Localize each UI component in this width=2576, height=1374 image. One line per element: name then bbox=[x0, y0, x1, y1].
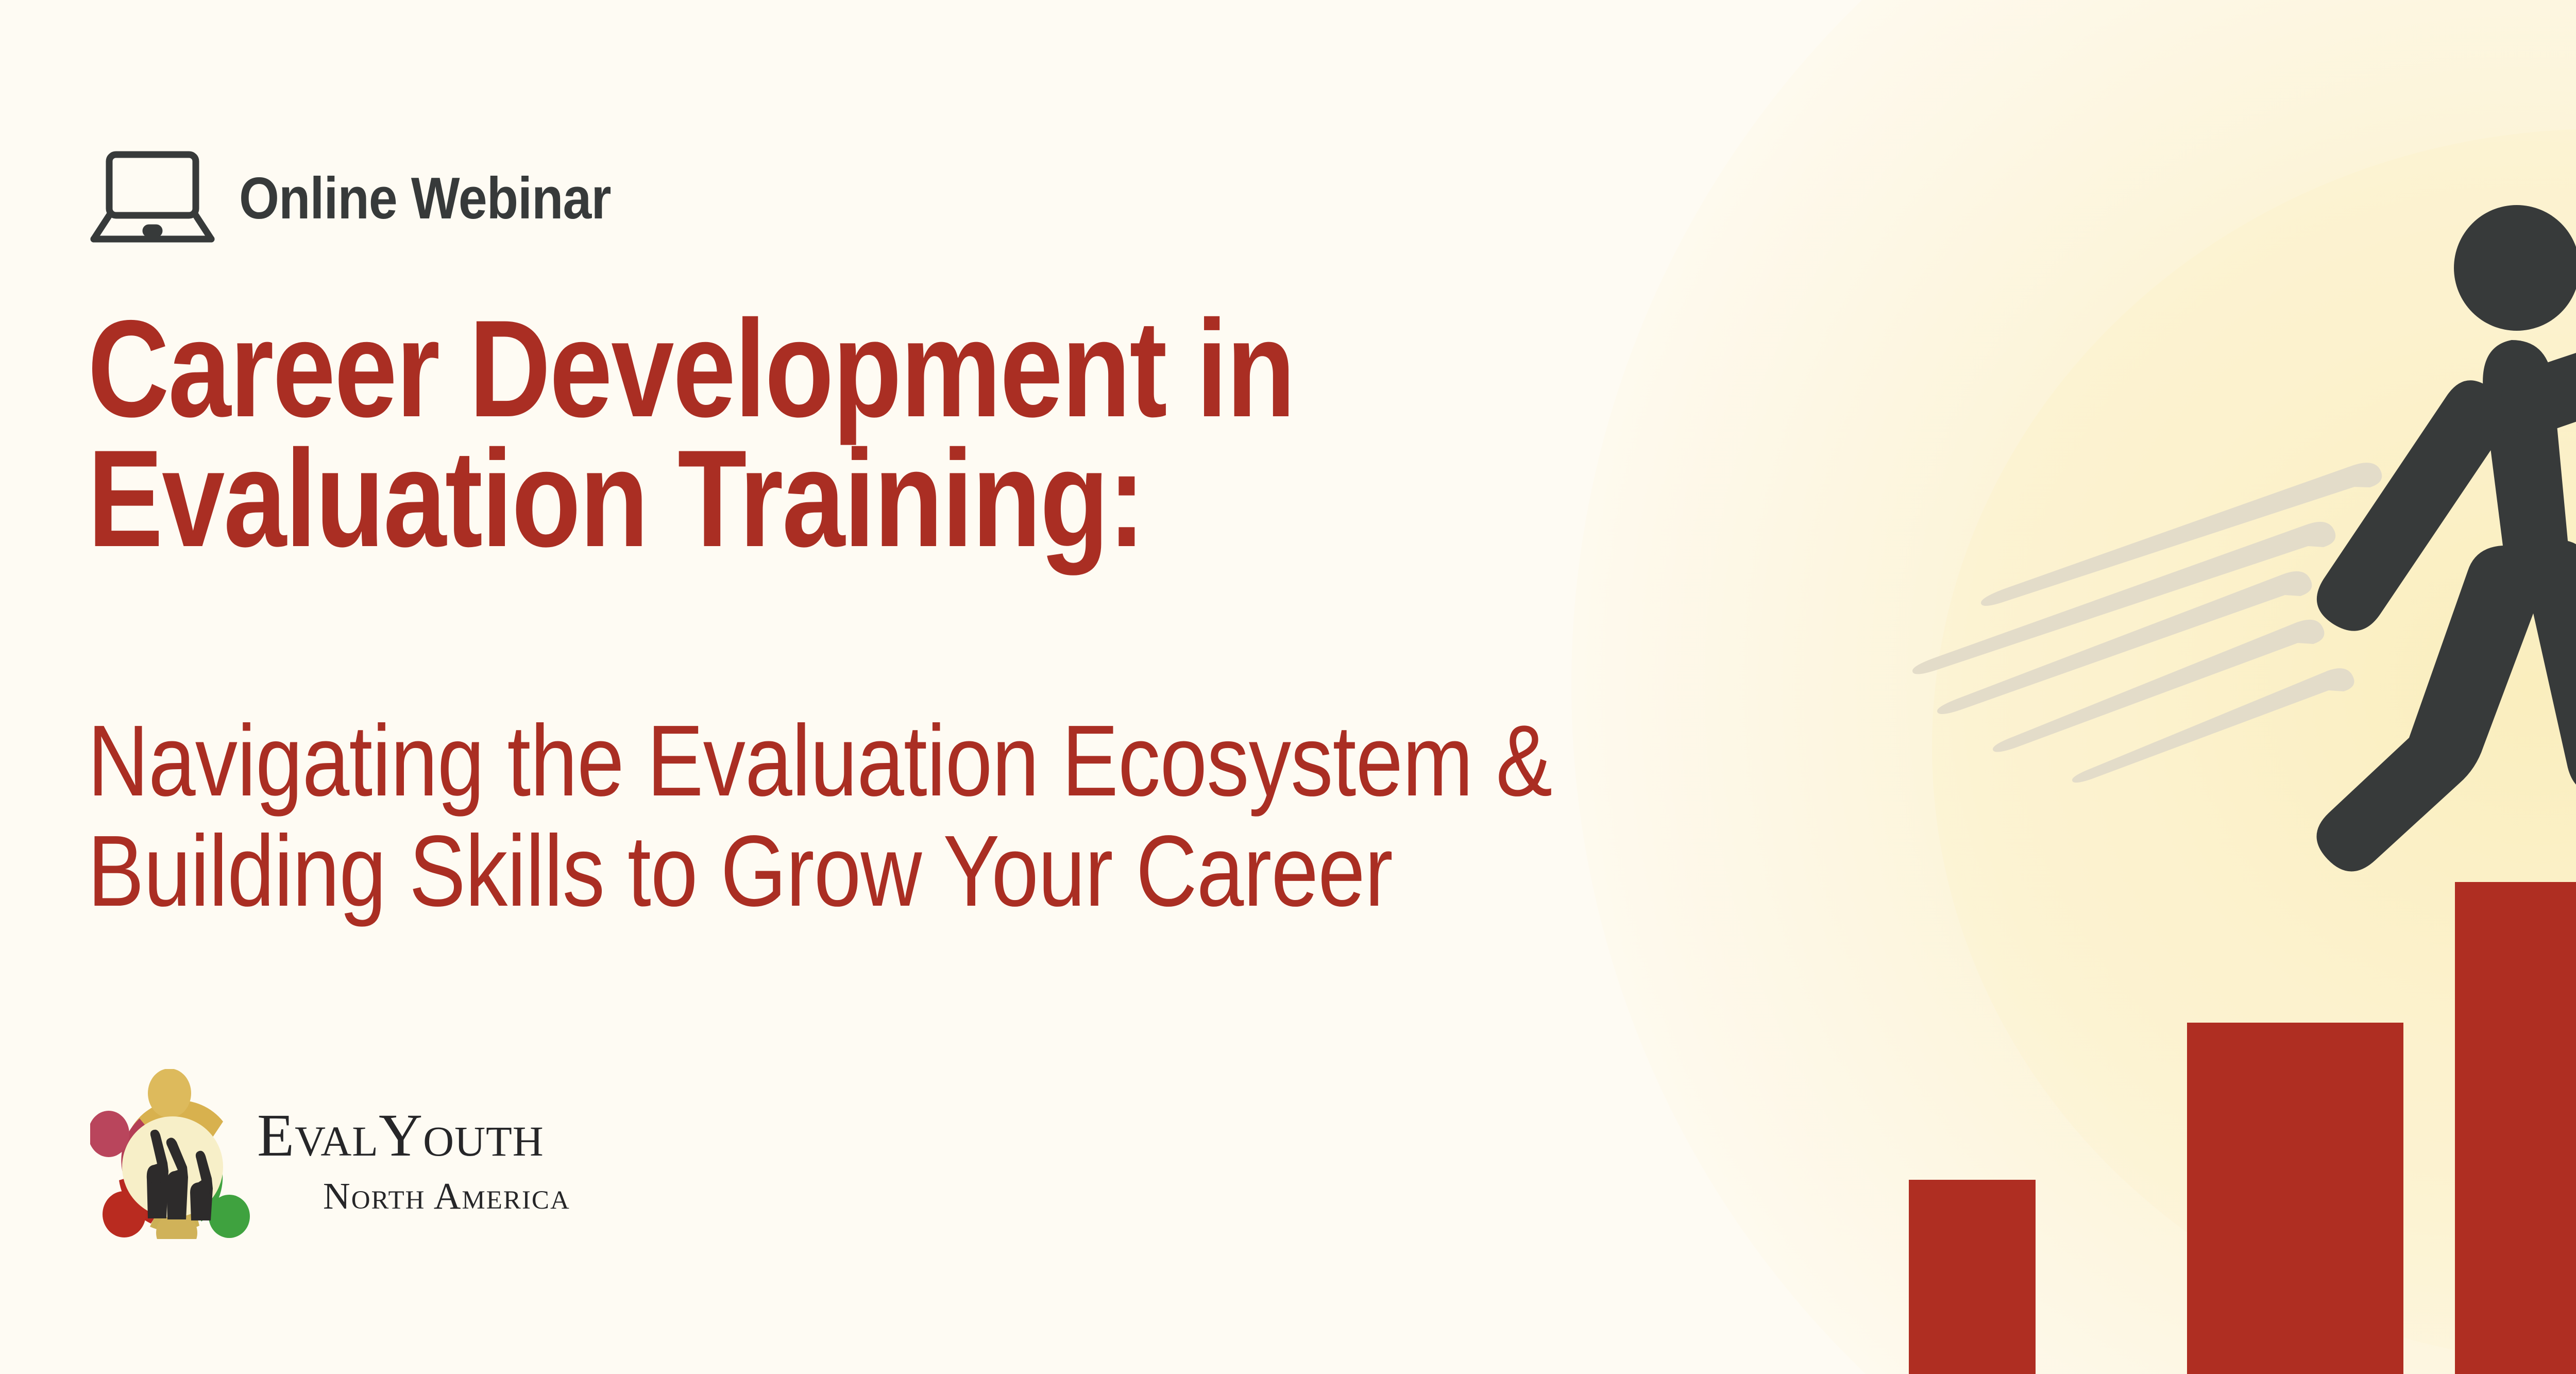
webinar-badge-label: Online Webinar bbox=[239, 165, 611, 232]
bar-2 bbox=[2187, 1023, 2403, 1374]
stick-figure-icon bbox=[2316, 205, 2576, 872]
webinar-badge: Online Webinar bbox=[88, 149, 662, 247]
headline-line-2: Evaluation Training: bbox=[88, 434, 1608, 564]
evalyouth-wordmark: EvalYouth North America bbox=[257, 1105, 570, 1215]
speed-lines-icon bbox=[1912, 463, 2382, 783]
subhead-line-2: Building Skills to Grow Your Career bbox=[88, 816, 1646, 926]
bar-3 bbox=[2455, 882, 2576, 1374]
logo-eval: Eval bbox=[257, 1101, 379, 1169]
page-subtitle: Navigating the Evaluation Ecosystem & Bu… bbox=[88, 706, 1942, 926]
background-glow-inner bbox=[1932, 129, 2576, 1365]
evalyouth-logo[interactable]: EvalYouth North America bbox=[90, 1069, 570, 1239]
evalyouth-region: North America bbox=[323, 1177, 570, 1215]
subhead-line-1: Navigating the Evaluation Ecosystem & bbox=[88, 706, 1646, 816]
page-title: Career Development in Evaluation Trainin… bbox=[88, 304, 1942, 564]
headline-line-1: Career Development in bbox=[88, 304, 1608, 434]
laptop-icon bbox=[88, 149, 217, 247]
logo-youth: Youth bbox=[379, 1101, 544, 1169]
evalyouth-emblem-icon bbox=[90, 1069, 255, 1239]
webinar-banner: Online Webinar Career Development in Eva… bbox=[0, 0, 2576, 1374]
evalyouth-name: EvalYouth bbox=[257, 1105, 570, 1166]
